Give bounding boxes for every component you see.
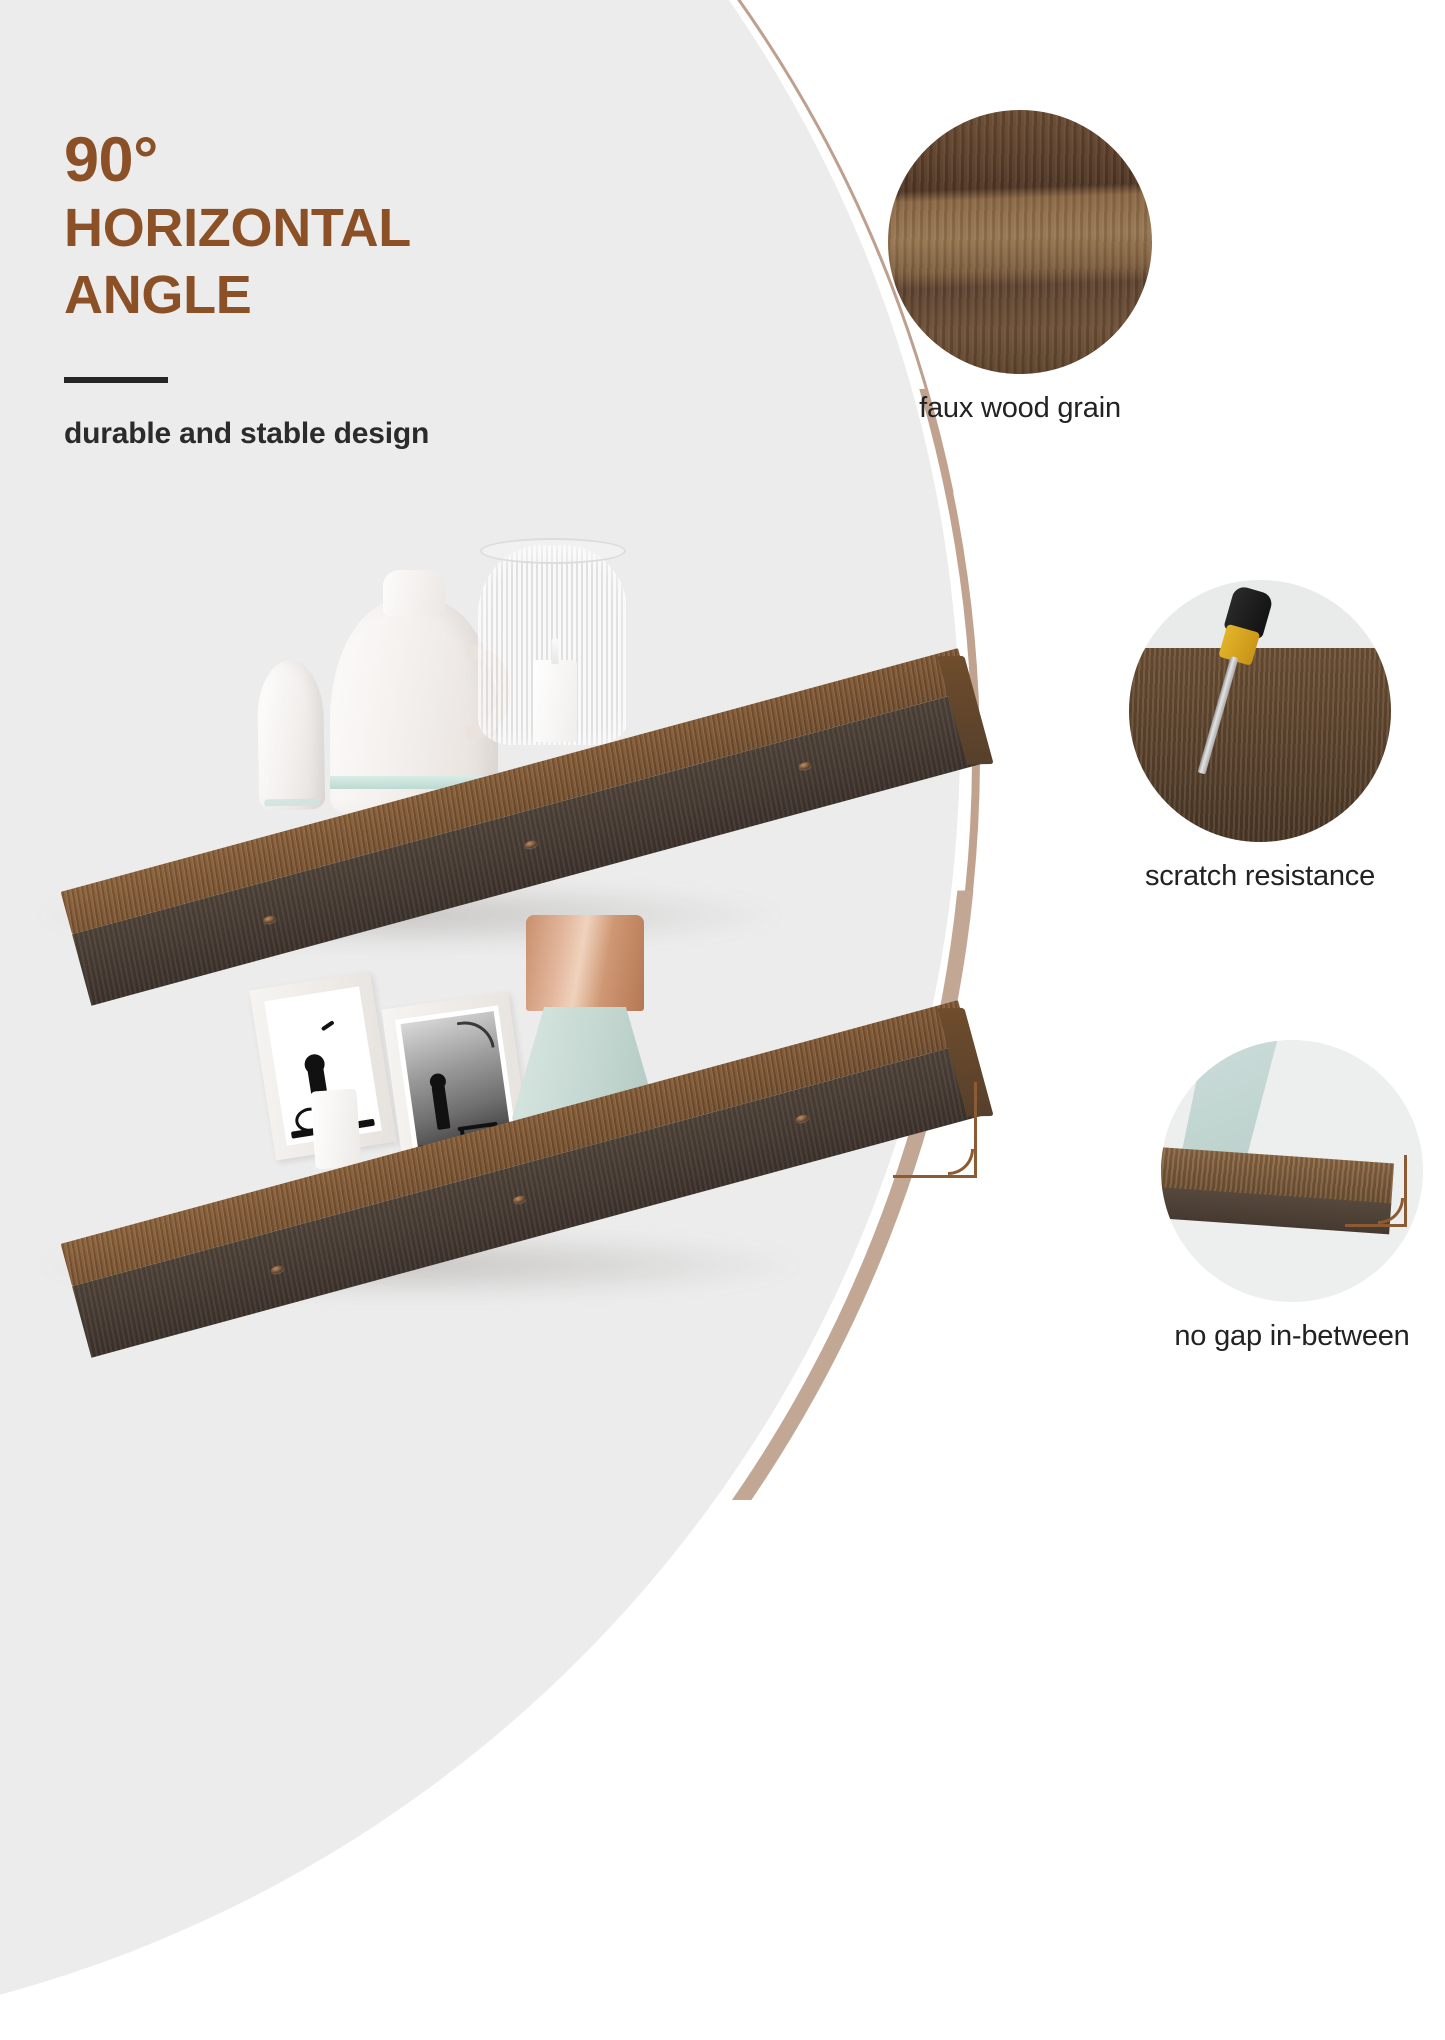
upper-shelf-screw-hole bbox=[798, 761, 812, 771]
angle-marker-horizontal-leg bbox=[893, 1175, 977, 1178]
vase-copper-cap bbox=[526, 915, 644, 1011]
angle-marker-vertical-leg bbox=[974, 1082, 977, 1178]
callout-scratch-resistance: scratch resistance bbox=[1108, 580, 1412, 893]
lower-shelf bbox=[28, 1000, 958, 1250]
callout-no-gap: no gap in-between bbox=[1140, 1040, 1444, 1353]
angle-marker-arc bbox=[948, 1149, 974, 1175]
lower-shelf-screw-hole bbox=[795, 1113, 809, 1123]
right-angle-marker bbox=[893, 1082, 977, 1178]
headline-divider-rule bbox=[64, 377, 168, 383]
lower-shelf-screw-hole bbox=[270, 1264, 284, 1274]
poster-canvas: 90° HORIZONTAL ANGLE durable and stable … bbox=[0, 0, 1445, 1500]
scratch-test-wood-surface bbox=[1129, 648, 1391, 842]
upper-shelf bbox=[28, 648, 958, 898]
wood-grain-texture bbox=[888, 110, 1152, 374]
headline-line-2: ANGLE bbox=[64, 265, 664, 325]
headline-subtitle: durable and stable design bbox=[64, 417, 664, 451]
jug-neck bbox=[383, 570, 445, 616]
headline-angle-value: 90° bbox=[64, 128, 664, 192]
right-angle-marker bbox=[1345, 1155, 1407, 1227]
headline-block: 90° HORIZONTAL ANGLE durable and stable … bbox=[64, 128, 664, 451]
angle-marker-vertical-leg bbox=[1404, 1155, 1407, 1227]
screwdriver-icon bbox=[1129, 580, 1391, 842]
headline-line-1: HORIZONTAL bbox=[64, 198, 664, 258]
callout-faux-wood-grain: faux wood grain bbox=[868, 110, 1172, 425]
upper-shelf-screw-hole bbox=[524, 839, 538, 849]
upper-shelf-screw-hole bbox=[262, 914, 276, 924]
callout-label-no-gap: no gap in-between bbox=[1140, 1320, 1444, 1353]
wood-grain-swatch-icon bbox=[888, 110, 1152, 374]
lower-shelf-screw-hole bbox=[512, 1194, 526, 1204]
glass-vase-rim bbox=[480, 538, 626, 564]
angle-marker-horizontal-leg bbox=[1345, 1224, 1407, 1227]
shelf-edge-icon bbox=[1161, 1040, 1423, 1302]
callout-label-faux-wood-grain: faux wood grain bbox=[868, 392, 1172, 425]
callout-label-scratch-resistance: scratch resistance bbox=[1108, 860, 1412, 893]
angle-marker-arc bbox=[1378, 1198, 1404, 1224]
